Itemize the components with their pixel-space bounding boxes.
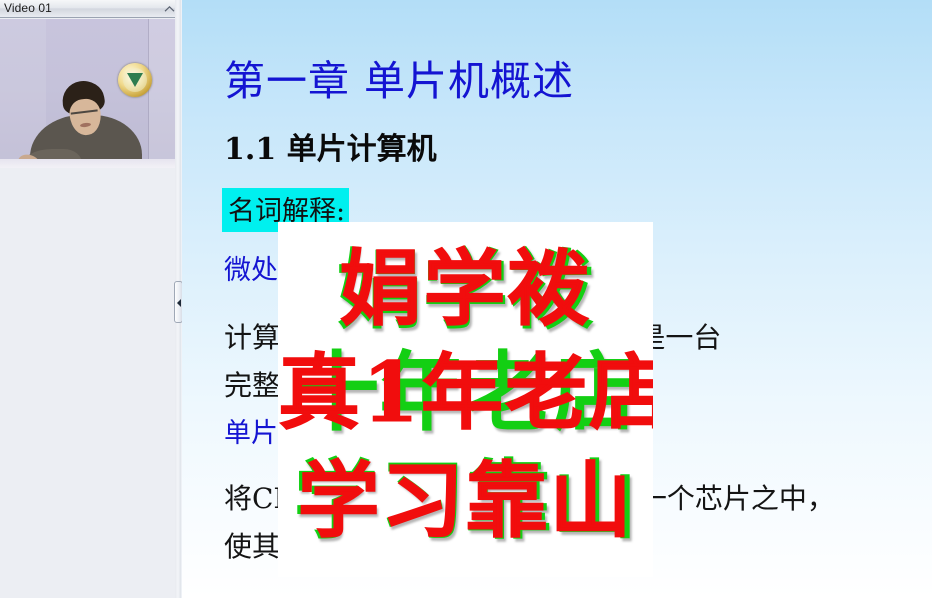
watermark-overlay: 娟学袯 十年老店 学习靠山 娟学袯 真1年老店 学习靠山 xyxy=(278,222,653,577)
video-wall-seam xyxy=(148,19,149,168)
watermark-line-1: 娟学袯 xyxy=(278,248,653,330)
slide-canvas: 第一章 单片机概述 1.1 单片计算机 名词解释: 微处理器 计算机的核心部件（… xyxy=(182,0,932,598)
emblem-inner-disc xyxy=(123,68,147,92)
video-desk-edge xyxy=(0,159,175,168)
video-titlebar: Video 01 xyxy=(0,0,181,18)
watermark-line-2: 真1年老店 xyxy=(278,352,653,434)
slide-subtitle: 1.1 单片计算机 xyxy=(224,124,437,168)
chevron-left-icon xyxy=(177,299,181,307)
emblem-triangle xyxy=(127,73,143,87)
wall-emblem-icon xyxy=(118,63,152,97)
video-wall-right xyxy=(148,19,175,168)
watermark-line-3: 学习靠山 xyxy=(278,460,653,542)
app-window: Video 01 xyxy=(0,0,932,598)
video-preview[interactable] xyxy=(0,19,176,168)
video-dock-body xyxy=(0,169,176,598)
video-dock-panel: Video 01 xyxy=(0,0,181,598)
video-panel-title: Video 01 xyxy=(4,1,52,15)
slide-title: 第一章 单片机概述 xyxy=(224,47,574,107)
